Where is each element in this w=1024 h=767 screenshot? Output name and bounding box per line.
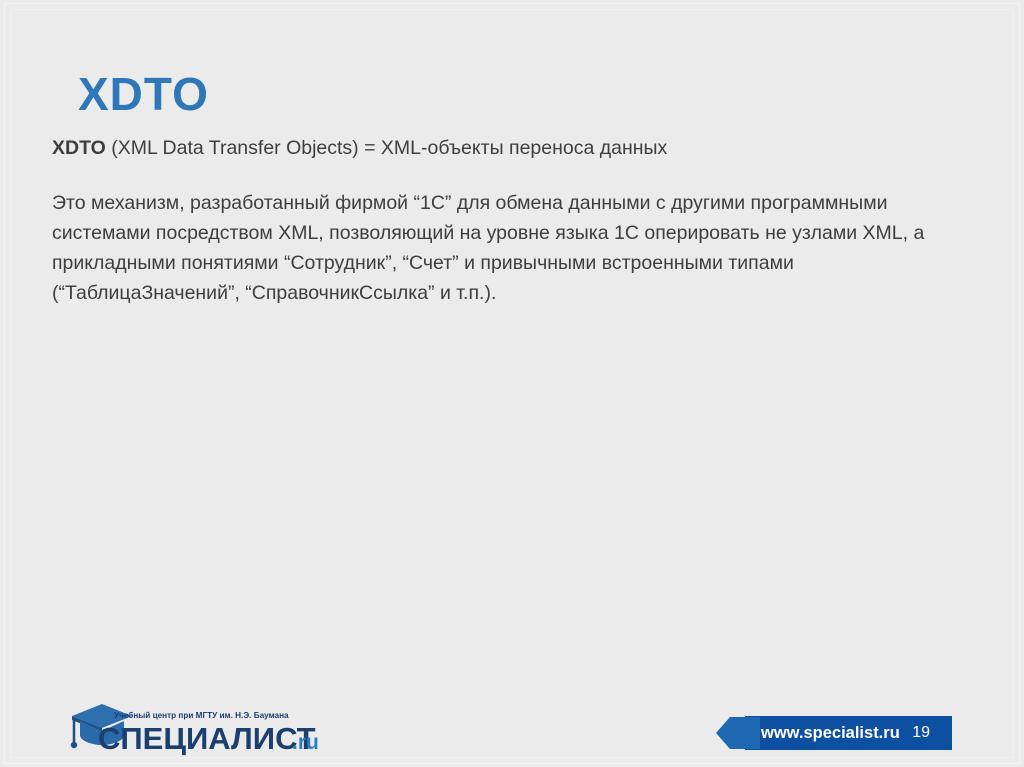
slide: XDTO XDTO (XML Data Transfer Objects) = … — [0, 0, 1024, 767]
logo-brand-tld: .ru — [292, 731, 319, 754]
description-paragraph: Это механизм, разработанный фирмой “1С” … — [52, 188, 982, 308]
page-title: XDTO — [78, 69, 209, 120]
lead-term: XDTO — [52, 137, 106, 159]
lead-definition: (XML Data Transfer Objects) = XML-объект… — [106, 137, 667, 159]
logo-tagline: Учебный центр при МГТУ им. Н.Э. Баумана — [114, 710, 289, 720]
logo-brand-main: СПЕЦИАЛИСТ — [98, 721, 316, 756]
footer-url-bar[interactable]: www.specialist.ru 19 — [716, 716, 952, 750]
page-number: 19 — [912, 716, 930, 750]
website-url[interactable]: www.specialist.ru — [761, 716, 900, 750]
specialist-logo[interactable]: СПЕЦИАЛИСТ .ru Учебный центр при МГТУ им… — [70, 702, 320, 760]
body-content: XDTO (XML Data Transfer Objects) = XML-о… — [52, 133, 982, 308]
slide-inner-border — [10, 9, 1014, 758]
arrow-marker-icon — [716, 717, 760, 749]
lead-paragraph: XDTO (XML Data Transfer Objects) = XML-о… — [52, 133, 982, 163]
